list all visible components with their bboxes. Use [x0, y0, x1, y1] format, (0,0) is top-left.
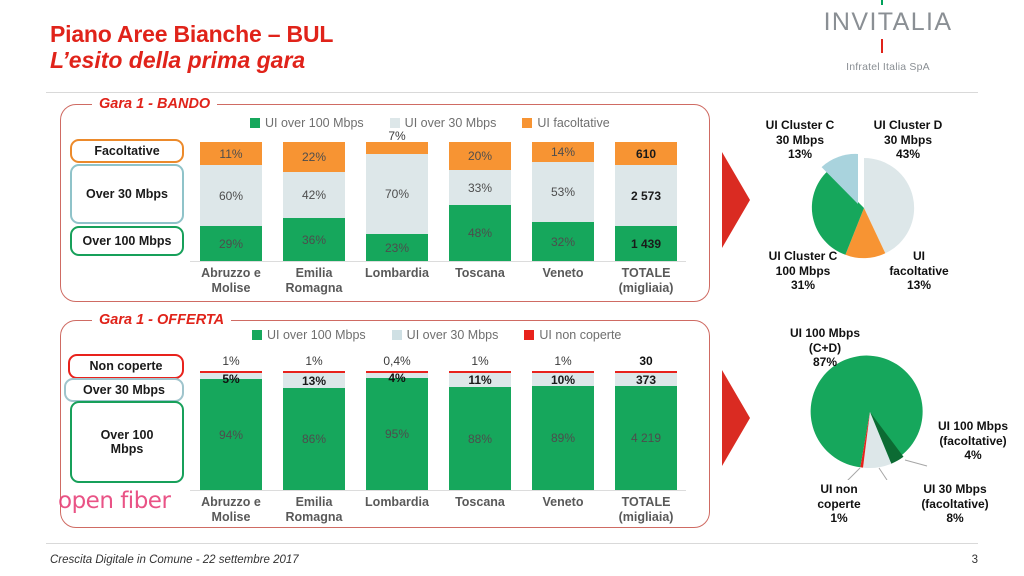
bar-outside-label-totale-noncoperte: 30: [615, 354, 677, 368]
bar-column-totale-bando: 610 2 573 1 439: [615, 142, 677, 261]
pie-label-line2: 100 Mbps: [753, 264, 853, 279]
invitalia-wordmark: INVITALIA: [824, 8, 953, 37]
bar-column-lombardia-offerta: 95%: [366, 371, 428, 490]
legend-item-noncoperte-offerta: UI non coperte: [524, 328, 621, 342]
callout-facoltative-label: Facoltative: [94, 144, 159, 158]
bar-seg-over100: 95%: [366, 378, 428, 490]
bar-outside-label-emilia-noncoperte: 1%: [283, 354, 345, 368]
category-label-lombardia-offerta: Lombardia: [356, 495, 438, 510]
category-label-totale-bando: TOTALE (migliaia): [605, 266, 687, 296]
panel-gara1-bando-label: Gara 1 - BANDO: [92, 96, 217, 112]
bar-seg-over100: 89%: [532, 386, 594, 490]
category-text: Abruzzo e Molise: [190, 266, 272, 296]
pie-label-ui-100-cd: UI 100 Mbps (C+D) 87%: [770, 326, 880, 370]
invitalia-logo-text: INVITALIA: [824, 8, 953, 36]
pie-label-line2: 30 Mbps: [752, 133, 848, 148]
bar-seg-over30: 10%: [532, 373, 594, 386]
pie-label-cluster-c-100: UI Cluster C 100 Mbps 31%: [753, 249, 853, 293]
bar-outside-label-lombardia-facoltative: 7%: [366, 129, 428, 143]
bar-seg-over30: 42%: [283, 172, 345, 218]
category-label-lombardia-bando: Lombardia: [356, 266, 438, 281]
bar-seg-over30: 70%: [366, 154, 428, 234]
callout-over30-bando: Over 30 Mbps: [70, 164, 184, 224]
pie-label-ui-100-facoltative: UI 100 Mbps (facoltative) 4%: [925, 419, 1021, 463]
legend-label-noncoperte: UI non coperte: [539, 328, 621, 342]
bar-seg-facoltative: 22%: [283, 142, 345, 172]
bar-column-toscana-bando: 20% 33% 48%: [449, 142, 511, 261]
category-text-l1: TOTALE: [605, 266, 687, 281]
bar-value: 610: [636, 147, 656, 161]
pie-label-ui-non-coperte: UI non coperte 1%: [798, 482, 880, 526]
slide-root: Piano Aree Bianche – BUL L’esito della p…: [0, 0, 1024, 576]
category-label-toscana-offerta: Toscana: [439, 495, 521, 510]
category-text: Abruzzo e Molise: [190, 495, 272, 525]
bar-column-abruzzo-offerta: 94%: [200, 371, 262, 490]
category-label-abruzzo-offerta: Abruzzo e Molise: [190, 495, 272, 525]
category-label-toscana-bando: Toscana: [439, 266, 521, 281]
legend-swatch-lightblue-icon: [392, 330, 402, 340]
legend-item-over100-offerta: UI over 100 Mbps: [252, 328, 366, 342]
bar-seg-over100: 86%: [283, 388, 345, 490]
bar-column-totale-offerta: 373 4 219: [615, 371, 677, 490]
legend-item-over30-offerta: UI over 30 Mbps: [392, 328, 499, 342]
invitalia-logo: INVITALIA Infratel Italia SpA: [798, 8, 978, 73]
category-text: Lombardia: [356, 266, 438, 281]
bar-outside-label-lombardia-noncoperte: 0,4%: [366, 354, 428, 368]
bar-outside-label-toscana-noncoperte: 1%: [449, 354, 511, 368]
legend-item-over30-bando: UI over 30 Mbps: [390, 116, 497, 130]
offerta-axis-line: [190, 490, 686, 491]
bar-seg-facoltative: [366, 142, 428, 154]
bar-seg-over100: 4 219: [615, 386, 677, 490]
pie-label-line2: 30 Mbps: [860, 133, 956, 148]
bar-seg-over30: 53%: [532, 162, 594, 222]
callout-over100-bando: Over 100 Mbps: [70, 226, 184, 256]
category-text: Veneto: [522, 266, 604, 281]
bar-column-abruzzo-bando: 11% 60% 29%: [200, 142, 262, 261]
legend-swatch-lightblue-icon: [390, 118, 400, 128]
logo-subtitle: Infratel Italia SpA: [798, 61, 978, 73]
pie-label-ui-30-facoltative: UI 30 Mbps (facoltative) 8%: [903, 482, 1007, 526]
legend-swatch-green-icon: [250, 118, 260, 128]
pie-label-line2: coperte: [798, 497, 880, 512]
pie-label-cluster-c-30: UI Cluster C 30 Mbps 13%: [752, 118, 848, 162]
pie-label-cluster-d-30: UI Cluster D 30 Mbps 43%: [860, 118, 956, 162]
legend-swatch-orange-icon: [522, 118, 532, 128]
bar-value: 10%: [551, 373, 575, 387]
legend-label-facoltative: UI facoltative: [537, 116, 609, 130]
pie-label-line3: 1%: [798, 511, 880, 526]
pie-label-line3: 31%: [753, 278, 853, 293]
category-label-abruzzo-bando: Abruzzo e Molise: [190, 266, 272, 296]
header-divider: [46, 92, 978, 93]
legend-item-over100-bando: UI over 100 Mbps: [250, 116, 364, 130]
bar-seg-over100: 48%: [449, 205, 511, 261]
category-label-emilia-bando: Emilia Romagna: [273, 266, 355, 296]
callout-over100-label: Over 100 Mbps: [83, 234, 172, 248]
bar-column-veneto-bando: 14% 53% 32%: [532, 142, 594, 261]
category-text: Toscana: [439, 266, 521, 281]
footer-divider: [46, 543, 978, 544]
legend-swatch-red-icon: [524, 330, 534, 340]
title-line-1: Piano Aree Bianche – BUL: [50, 22, 333, 48]
callout-noncoperte: Non coperte: [68, 354, 184, 379]
logo-green-tick-icon: [881, 0, 883, 5]
bar-column-lombardia-bando: 70% 23%: [366, 142, 428, 261]
bar-seg-facoltative: 14%: [532, 142, 594, 162]
category-text: Emilia Romagna: [273, 266, 355, 296]
legend-label-over100: UI over 100 Mbps: [267, 328, 366, 342]
pie-label-line2: (facoltative): [903, 497, 1007, 512]
callout-over30-label: Over 30 Mbps: [83, 383, 165, 397]
pie-label-line2: (C+D): [770, 341, 880, 356]
bar-seg-over30: 33%: [449, 170, 511, 205]
bar-seg-facoltative: 11%: [200, 142, 262, 165]
bar-outside-label-veneto-noncoperte: 1%: [532, 354, 594, 368]
bar-seg-over30: 13%: [283, 373, 345, 388]
legend-bando: UI over 100 Mbps UI over 30 Mbps UI faco…: [250, 116, 610, 130]
bar-seg-facoltative: 610: [615, 142, 677, 165]
callout-over30-label: Over 30 Mbps: [86, 187, 168, 201]
bar-seg-facoltative: 20%: [449, 142, 511, 170]
pie-label-line1: UI 100 Mbps: [925, 419, 1021, 434]
bar-seg-over100: 23%: [366, 234, 428, 261]
category-text: Veneto: [522, 495, 604, 510]
pie-label-line3: 87%: [770, 355, 880, 370]
pie-label-line1: UI Cluster C: [753, 249, 853, 264]
category-text: Lombardia: [356, 495, 438, 510]
bar-seg-over100: 94%: [200, 379, 262, 490]
pie-label-line3: 43%: [860, 147, 956, 162]
bar-value: 2 573: [631, 189, 661, 203]
pie-label-line3: 13%: [752, 147, 848, 162]
bar-seg-over30: 373: [615, 373, 677, 386]
footer-page-number: 3: [972, 554, 978, 566]
page-title: Piano Aree Bianche – BUL L’esito della p…: [50, 22, 333, 74]
title-line-2: L’esito della prima gara: [50, 48, 333, 74]
pie-label-line2: facoltative: [874, 264, 964, 279]
bar-column-emilia-bando: 22% 42% 36%: [283, 142, 345, 261]
pie-label-line1: UI Cluster D: [860, 118, 956, 133]
legend-label-over30: UI over 30 Mbps: [407, 328, 499, 342]
pie-label-line3: 4%: [925, 448, 1021, 463]
category-text-l2: (migliaia): [605, 281, 687, 296]
legend-swatch-green-icon: [252, 330, 262, 340]
bar-seg-over30: 2 573: [615, 165, 677, 226]
category-label-veneto-offerta: Veneto: [522, 495, 604, 510]
pie-label-line1: UI: [874, 249, 964, 264]
category-text-l2: (migliaia): [605, 510, 687, 525]
panel-gara1-offerta-label: Gara 1 - OFFERTA: [92, 312, 231, 328]
legend-offerta: UI over 100 Mbps UI over 30 Mbps UI non …: [252, 328, 621, 342]
category-label-emilia-offerta: Emilia Romagna: [273, 495, 355, 525]
category-label-totale-offerta: TOTALE (migliaia): [605, 495, 687, 525]
pie-label-line1: UI 30 Mbps: [903, 482, 1007, 497]
pie-label-line3: 8%: [903, 511, 1007, 526]
callout-over30-offerta: Over 30 Mbps: [64, 378, 184, 402]
bar-value: 373: [636, 373, 656, 387]
chart-bando-bars: 11% 60% 29% Abruzzo e Molise 22% 42% 36%…: [190, 138, 690, 298]
callout-noncoperte-label: Non coperte: [90, 359, 163, 373]
pie-label-line1: UI Cluster C: [752, 118, 848, 133]
bar-seg-over30: 11%: [449, 373, 511, 387]
footer-text: Crescita Digitale in Comune - 22 settemb…: [50, 554, 299, 566]
bar-seg-over30: 60%: [200, 165, 262, 226]
callout-facoltative: Facoltative: [70, 139, 184, 163]
bar-value: 11%: [468, 373, 491, 387]
category-text: Emilia Romagna: [273, 495, 355, 525]
callout-over100-offerta: Over 100Mbps: [70, 401, 184, 483]
category-text-l1: TOTALE: [605, 495, 687, 510]
bar-outside-label-abruzzo-noncoperte: 1%: [200, 354, 262, 368]
bar-outside-label-lombardia-over30: 4%: [366, 371, 428, 385]
bar-seg-over100: 32%: [532, 222, 594, 261]
category-label-veneto-bando: Veneto: [522, 266, 604, 281]
pie-label-facoltative: UI facoltative 13%: [874, 249, 964, 293]
logo-red-tick-icon: [881, 39, 883, 53]
pie-label-line1: UI non: [798, 482, 880, 497]
arrow-right-icon-offerta: [714, 368, 752, 468]
bar-value: 13%: [302, 374, 326, 388]
bar-column-emilia-offerta: 13% 86%: [283, 371, 345, 490]
bar-value: 1 439: [631, 237, 661, 251]
bar-column-veneto-offerta: 10% 89%: [532, 371, 594, 490]
bar-seg-over100: 1 439: [615, 226, 677, 261]
bar-outside-label-abruzzo-over30: 5%: [200, 372, 262, 386]
bando-axis-line: [190, 261, 686, 262]
legend-item-facoltative-bando: UI facoltative: [522, 116, 609, 130]
arrow-right-icon-bando: [714, 150, 752, 250]
bar-seg-over100: 36%: [283, 218, 345, 261]
legend-label-over100: UI over 100 Mbps: [265, 116, 364, 130]
pie-label-line1: UI 100 Mbps: [770, 326, 880, 341]
chart-offerta-bars: 94% 1% 5% Abruzzo e Molise 13% 86% 1% Em…: [190, 352, 690, 522]
pie-label-line2: (facoltative): [925, 434, 1021, 449]
bar-seg-over100: 29%: [200, 226, 262, 261]
pie-label-line3: 13%: [874, 278, 964, 293]
callout-over100-label: Over 100Mbps: [101, 428, 154, 457]
legend-label-over30: UI over 30 Mbps: [405, 116, 497, 130]
category-text: Toscana: [439, 495, 521, 510]
bar-column-toscana-offerta: 11% 88%: [449, 371, 511, 490]
bar-seg-over100: 88%: [449, 387, 511, 490]
open-fiber-logo: open fiber: [58, 488, 170, 514]
